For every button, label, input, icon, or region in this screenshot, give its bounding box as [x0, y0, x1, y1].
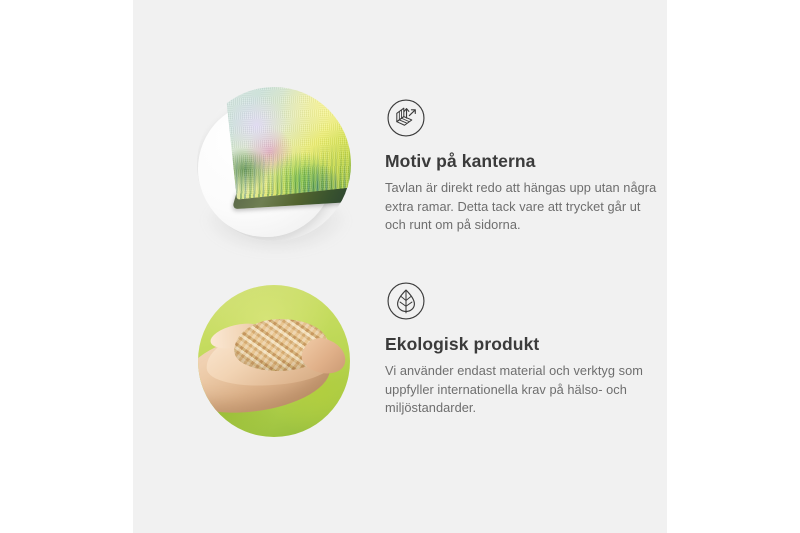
- canvas-print-object: [225, 87, 351, 228]
- feature-block-ekologisk-produkt: Ekologisk produkt Vi använder endast mat…: [133, 268, 667, 448]
- leaf-icon: [385, 280, 427, 322]
- feature-heading: Motiv på kanterna: [385, 151, 660, 172]
- feature-text-block: Motiv på kanterna Tavlan är direkt redo …: [385, 97, 660, 235]
- product-feature-infographic: Motiv på kanterna Tavlan är direkt redo …: [0, 0, 800, 533]
- hands-holding-wood-chips-photo: [198, 285, 350, 437]
- canvas-front-face: [225, 87, 351, 200]
- canvas-print-corner-photo: [197, 87, 351, 241]
- feature-block-motiv-pa-kanterna: Motiv på kanterna Tavlan är direkt redo …: [133, 75, 667, 255]
- feature-body: Tavlan är direkt redo att hängas upp uta…: [385, 179, 660, 235]
- feature-text-block: Ekologisk produkt Vi använder endast mat…: [385, 280, 670, 418]
- feature-heading: Ekologisk produkt: [385, 334, 670, 355]
- feature-body: Vi använder endast material och verktyg …: [385, 362, 670, 418]
- canvas-edge-print-icon: [385, 97, 427, 139]
- content-panel: Motiv på kanterna Tavlan är direkt redo …: [133, 0, 667, 533]
